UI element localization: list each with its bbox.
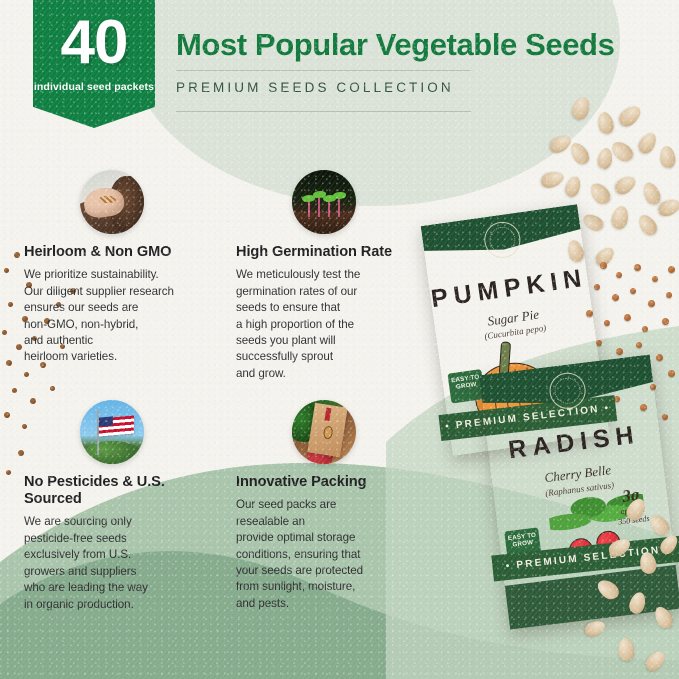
feature-body: We prioritize sustainability. Our dilige… — [24, 267, 224, 366]
pumpkin-seed — [635, 130, 659, 157]
pumpkin-seed — [659, 145, 677, 169]
feature-body: We meticulously test the germination rat… — [236, 267, 436, 382]
feature-title: Heirloom & Non GMO — [24, 244, 224, 261]
feature-title: High Germination Rate — [236, 244, 436, 261]
feature-title: Innovative Packing — [236, 474, 436, 491]
feature-no-pesticides-us-sourced: No Pesticides & U.S. Sourced We are sour… — [24, 400, 224, 613]
pumpkin-seed — [567, 140, 592, 167]
badge-caption: individual seed packets — [33, 81, 155, 94]
packet-radish: RADISH Cherry Belle (Raphanus sativus) 3… — [479, 354, 679, 629]
seed-packet-count-badge: 40 individual seed packets — [33, 0, 155, 128]
hand-with-seeds-icon — [80, 170, 144, 234]
scattered-seed — [12, 388, 17, 393]
seed-collection-infographic: 40 individual seed packets Most Popular … — [0, 0, 679, 679]
pumpkin-seed — [608, 138, 636, 165]
feature-title: No Pesticides & U.S. Sourced — [24, 474, 224, 508]
scattered-seed — [50, 386, 55, 391]
scattered-seed — [8, 302, 13, 307]
header: Most Popular Vegetable Seeds PREMIUM SEE… — [176, 28, 646, 112]
scattered-seed — [2, 330, 7, 335]
pumpkin-seed — [596, 111, 616, 136]
feature-heirloom-non-gmo: Heirloom & Non GMO We prioritize sustain… — [24, 170, 224, 366]
seed-packet-icon — [292, 400, 356, 464]
scattered-seed — [6, 470, 11, 475]
feature-innovative-packing: Innovative Packing Our seed packs are re… — [236, 400, 436, 612]
feature-body: We are sourcing only pesticide-free seed… — [24, 514, 224, 613]
scattered-seed — [16, 344, 22, 350]
feature-body: Our seed packs are resealable an provide… — [236, 497, 436, 612]
us-flag-icon — [80, 400, 144, 464]
sprouting-seedlings-icon — [292, 170, 356, 234]
scattered-seed — [14, 252, 20, 258]
pumpkin-seed — [539, 169, 566, 190]
scattered-seed — [6, 360, 12, 366]
feature-high-germination-rate: High Germination Rate We meticulously te… — [236, 170, 436, 382]
scattered-seed — [4, 268, 9, 273]
page-subtitle: PREMIUM SEEDS COLLECTION — [176, 71, 646, 103]
pumpkin-seed — [563, 174, 583, 198]
badge-number: 40 — [33, 0, 155, 74]
pumpkin-seed — [612, 173, 639, 198]
divider-bottom — [176, 111, 471, 112]
scattered-seed — [4, 412, 10, 418]
pumpkin-seed — [586, 180, 613, 208]
pumpkin-seed — [596, 147, 613, 170]
scattered-seed — [24, 372, 29, 377]
page-title: Most Popular Vegetable Seeds — [176, 28, 646, 62]
